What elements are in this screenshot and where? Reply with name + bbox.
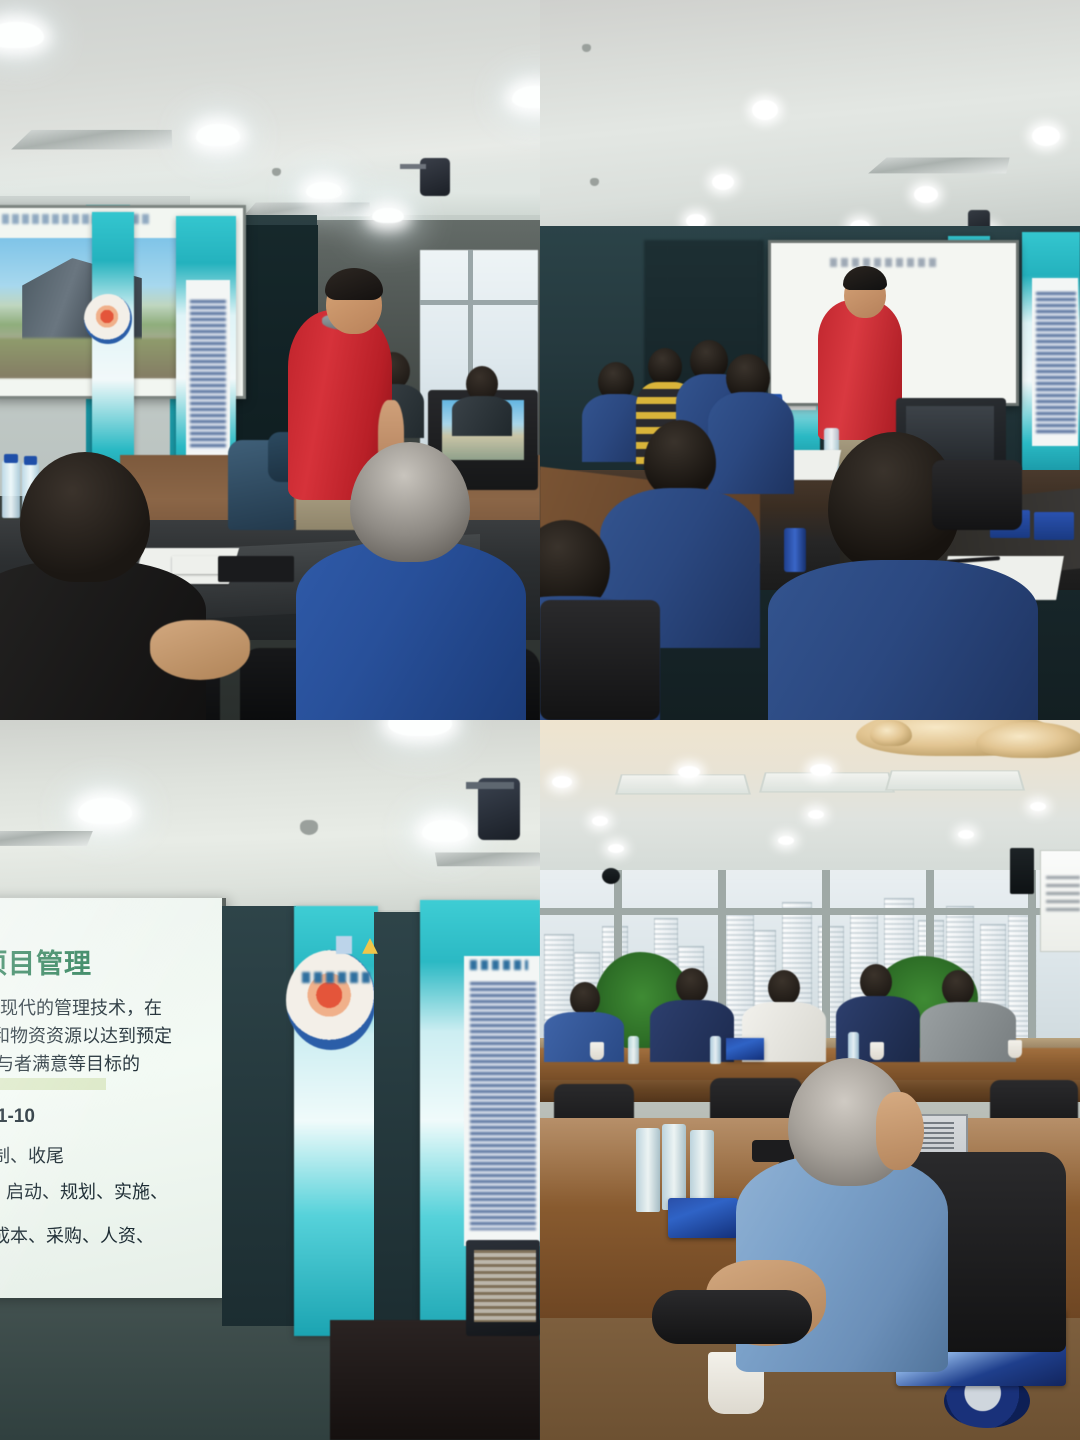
attendee-body [708, 392, 794, 494]
ceiling-light [592, 816, 608, 826]
air-vent-icon [0, 831, 93, 846]
ceiling-light [306, 182, 342, 199]
attendee-body [452, 396, 512, 436]
photo-collage: 项目管理 运用现代的管理技术，在 人力和物资资源以达到预定 和参与者满意等目标的… [0, 0, 1080, 1440]
notebook [218, 556, 294, 582]
wall-speaker [1010, 848, 1034, 894]
water-bottle [2, 460, 20, 518]
rollup-banner [92, 212, 134, 482]
ceiling-light [778, 836, 794, 845]
ceiling-light [678, 766, 700, 778]
paper-cup [590, 1042, 604, 1060]
ceiling-light [422, 820, 468, 842]
tissue-box [726, 1038, 764, 1060]
air-vent-icon [868, 157, 1009, 173]
attendee-arm [150, 620, 250, 680]
conference-table [330, 1320, 540, 1440]
sprinkler-icon [590, 178, 599, 186]
ceiling-light [1030, 802, 1046, 811]
ceiling-light [712, 174, 734, 190]
board-text [1046, 876, 1080, 912]
window-transom [540, 908, 1080, 915]
participant-body [544, 1012, 624, 1062]
slide-line: 和参与者满意等目标的 [0, 1050, 140, 1076]
ceiling-light [196, 124, 240, 146]
slide-highlight-bar [0, 1078, 106, 1090]
slide-line: 运用现代的管理技术，在 [0, 994, 162, 1020]
sprinkler-icon [272, 168, 281, 176]
collage-panel-top-left [0, 0, 540, 720]
paper-cup [870, 1042, 884, 1060]
ceiling [0, 720, 540, 920]
ceiling-light [1032, 126, 1060, 146]
collage-panel-bottom-left: 项目管理 运用现代的管理技术，在 人力和物资资源以达到预定 和参与者满意等目标的… [0, 720, 540, 1440]
projector-arm [466, 782, 514, 789]
participant-body [650, 1000, 734, 1062]
conference-microphone [752, 1140, 794, 1162]
water-bottle [636, 1128, 660, 1212]
water-bottle [710, 1036, 721, 1064]
slide-line: 5-1-10 [0, 1106, 35, 1128]
banner-schedule-table [470, 982, 536, 1230]
slide-heading-text [830, 258, 940, 267]
attendee-head [648, 348, 682, 386]
paper-cup [1008, 1040, 1022, 1058]
banner-schedule-table [190, 300, 226, 450]
slide-heading: 项目管理 [0, 942, 92, 981]
office-chair [932, 460, 1022, 530]
ceiling-light [608, 844, 624, 853]
participant-head [860, 964, 892, 1000]
chair-armrest [652, 1290, 812, 1344]
ceiling-light [372, 208, 404, 223]
projection-screen: 项目管理 运用现代的管理技术，在 人力和物资资源以达到预定 和参与者满意等目标的… [0, 898, 226, 1298]
collage-panel-top-right [540, 0, 1080, 720]
ceiling-light [808, 810, 824, 819]
participant-body [920, 1002, 1016, 1062]
ceiling-light [810, 764, 832, 776]
chandelier-arm [976, 722, 1080, 758]
bottle-cap [4, 454, 18, 463]
collage-panel-bottom-right [540, 720, 1080, 1440]
banner-logo-icon [84, 294, 132, 344]
water-bottle [628, 1036, 639, 1064]
banner-schedule-table [1036, 292, 1076, 434]
banner-title-text [470, 960, 528, 970]
ceiling-coffer [759, 772, 895, 792]
ceiling-light [752, 100, 778, 120]
slide-line: 控制、收尾 [0, 1142, 64, 1168]
sprinkler-icon [300, 820, 318, 835]
slide-line: 人力和物资资源以达到预定 [0, 1022, 172, 1048]
ceiling [540, 0, 1080, 232]
wall-speaker [602, 868, 620, 884]
ceiling-light [552, 776, 572, 788]
sprinkler-icon [582, 44, 591, 52]
participant-head [570, 982, 600, 1016]
attendee-body-foreground [768, 560, 1038, 720]
slide-line: 量、成本、采购、人资、 [0, 1222, 154, 1248]
bottle-cap [24, 456, 37, 465]
dark-wall-panel [222, 906, 296, 1326]
notepad [1034, 512, 1074, 540]
air-vent-icon [435, 852, 540, 866]
notice-sign [336, 936, 352, 954]
air-vent-icon [11, 130, 172, 150]
tissue-box [668, 1198, 738, 1238]
dark-wall-panel [374, 912, 422, 1332]
ceiling-light [78, 798, 132, 824]
ceiling-coffer [615, 774, 751, 794]
office-chair [540, 600, 660, 720]
slide-line: 方法：启动、规划、实施、 [0, 1178, 168, 1204]
presenter-red-shirt [818, 300, 902, 440]
banner-title-text [302, 972, 370, 983]
window-frame [420, 300, 538, 305]
banner-logo-icon [286, 950, 376, 1050]
attendee-head [644, 420, 716, 498]
ceiling-light [914, 186, 938, 203]
chandelier-bowl [870, 720, 912, 746]
ceiling-light [958, 830, 974, 839]
participant-head [768, 970, 800, 1006]
monitor-screen-text [474, 1250, 536, 1322]
participant-head [942, 970, 974, 1006]
foreground-man-skin [876, 1092, 924, 1170]
projector-arm [400, 164, 426, 169]
participant-head [676, 968, 708, 1004]
attendee-blue-shirt [296, 540, 526, 720]
presenter-hair [325, 268, 383, 300]
drink-can [784, 528, 806, 572]
